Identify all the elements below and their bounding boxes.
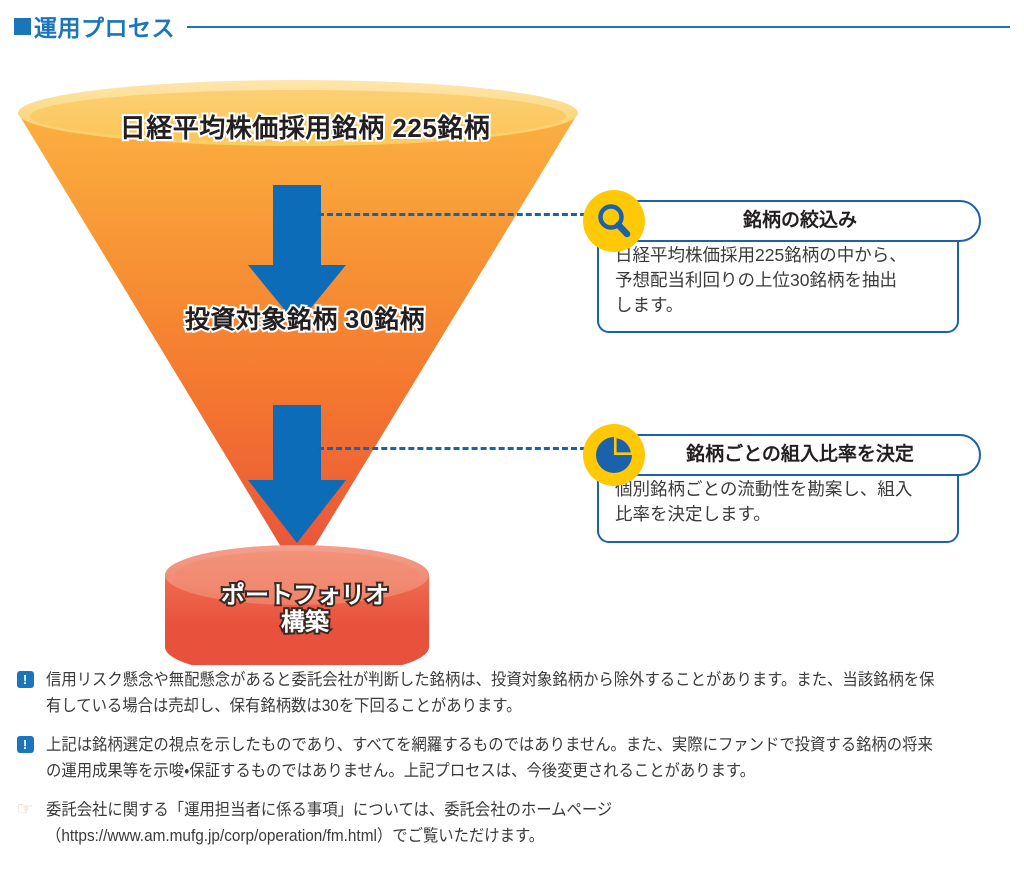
footnote-marker: ! [17,671,34,688]
square-bullet-icon [14,18,31,35]
callout-1-text: 日経平均株価採用225銘柄の中から、 予想配当利回りの上位30銘柄を抽出 します… [615,243,943,318]
footnote-text: 信用リスク懸念や無配懸念があると委託会社が判断した銘柄は、投資対象銘柄から除外す… [46,668,946,719]
page-header: 運用プロセス [0,0,1024,52]
pointing-hand-icon: ☞ [14,798,36,820]
funnel-stage-label-investment: 投資対象銘柄 30銘柄 [10,300,600,336]
footnote-text: 上記は銘柄選定の視点を示したものであり、すべてを網羅するものではありません。また… [46,733,946,784]
footnotes-section: ! 信用リスク懸念や無配懸念があると委託会社が判断した銘柄は、投資対象銘柄から除… [14,668,1014,863]
header-divider [187,26,1010,28]
exclamation-icon: ! [14,733,36,754]
funnel-diagram: 日経平均株価採用銘柄 225銘柄 投資対象銘柄 30銘柄 ポートフォリオ 構築 [10,75,600,665]
funnel-graphic [10,75,600,665]
funnel-stage-text-investment: 投資対象銘柄 30銘柄 [185,306,425,334]
page-title: 運用プロセス [34,9,175,43]
connector-line-2 [318,447,586,450]
callout-1-title: 銘柄の絞込み [619,200,981,242]
footnote-item: ! 上記は銘柄選定の視点を示したものであり、すべてを網羅するものではありません。… [14,733,1014,784]
callout-2-text: 個別銘柄ごとの流動性を勘案し、組入 比率を決定します。 [615,477,943,527]
exclamation-icon: ! [14,668,36,689]
callout-2-title: 銘柄ごとの組入比率を決定 [619,434,981,476]
footnote-item: ! 信用リスク懸念や無配懸念があると委託会社が判断した銘柄は、投資対象銘柄から除… [14,668,1014,719]
footnote-text: 委託会社に関する「運用担当者に係る事項」については、委託会社のホームページ（ht… [46,798,946,849]
funnel-stage-text-portfolio: ポートフォリオ 構築 [221,582,389,636]
footnote-marker: ! [17,736,34,753]
funnel-stage-text-universe: 日経平均株価採用銘柄 225銘柄 [120,113,491,143]
footnote-marker: ☞ [16,801,33,818]
funnel-stage-label-universe: 日経平均株価採用銘柄 225銘柄 [10,108,600,145]
connector-line-1 [318,213,586,216]
funnel-stage-label-portfolio: ポートフォリオ 構築 [10,583,600,637]
footnote-item: ☞ 委託会社に関する「運用担当者に係る事項」については、委託会社のホームページ（… [14,798,1014,849]
